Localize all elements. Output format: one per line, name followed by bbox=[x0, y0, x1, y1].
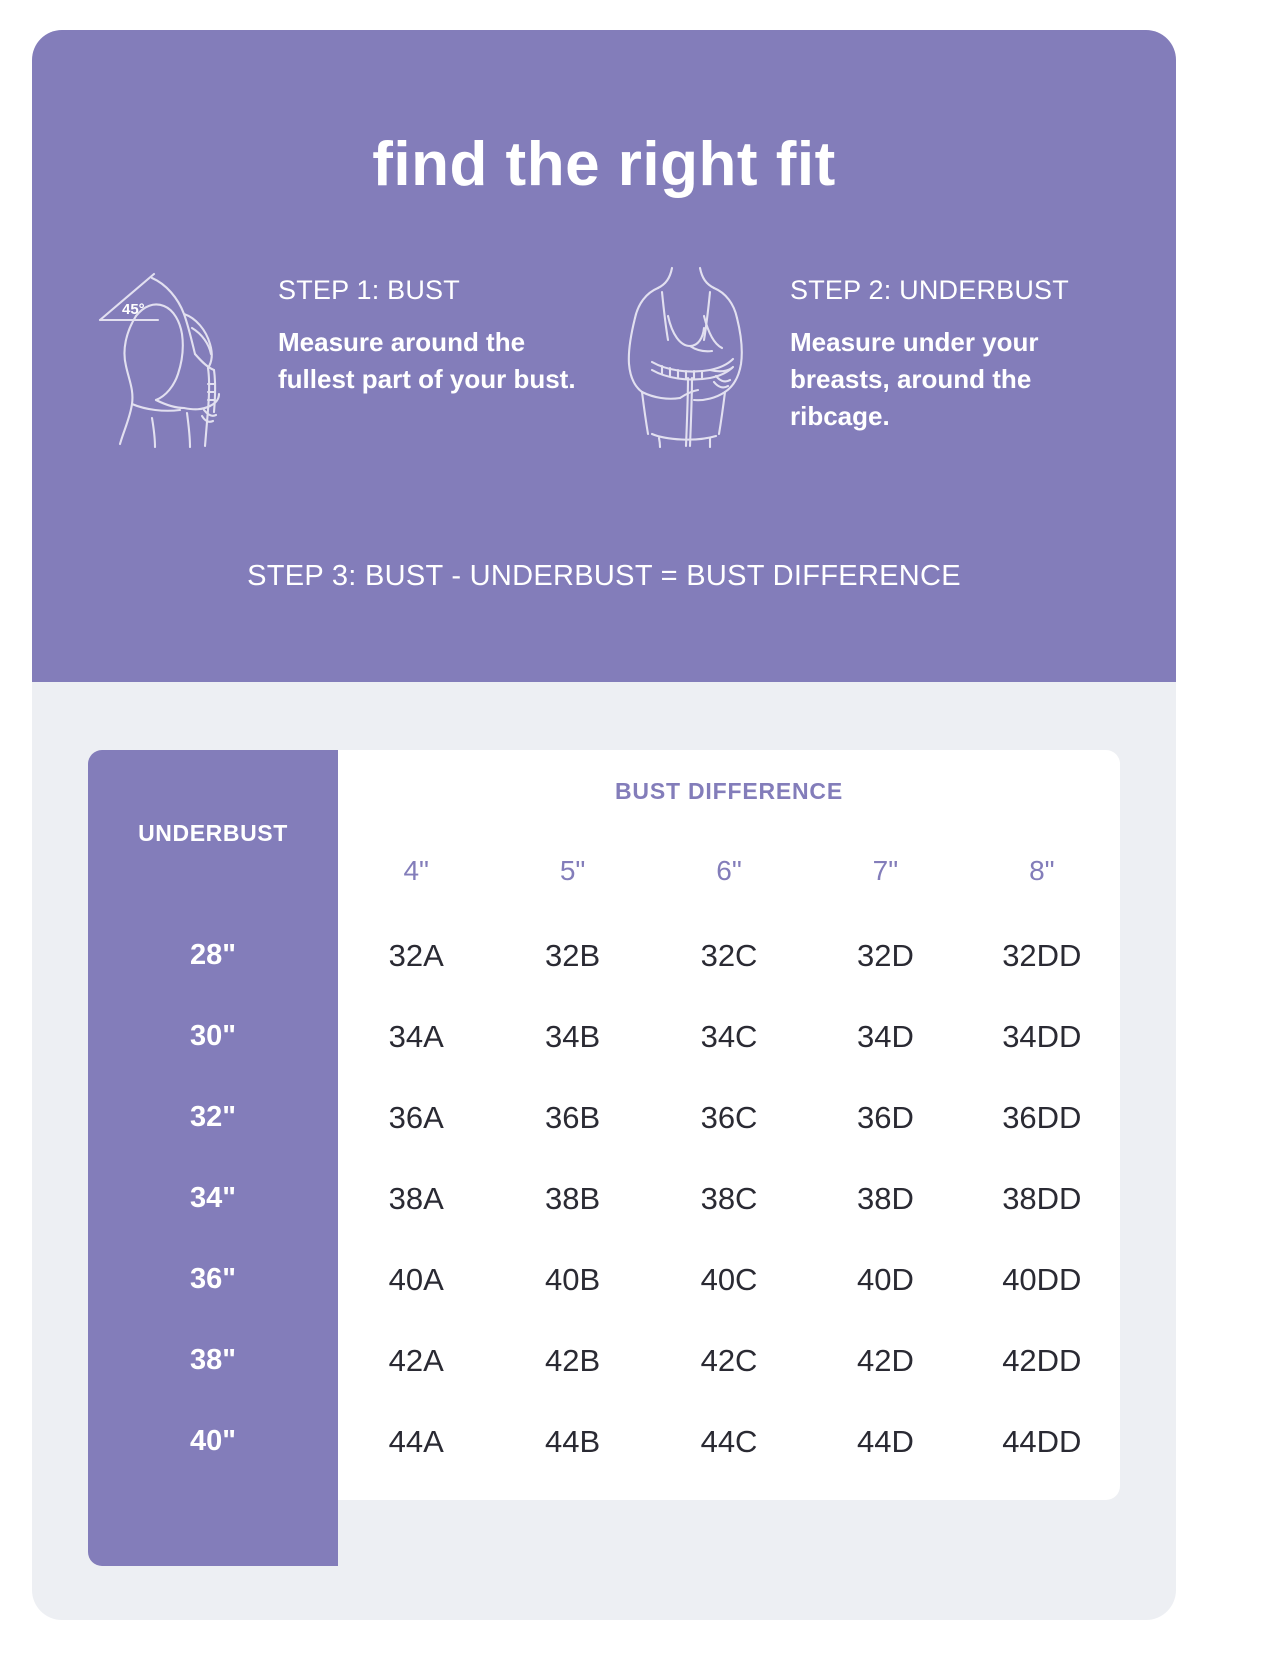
size-cell: 38B bbox=[494, 1181, 650, 1217]
size-cell: 36A bbox=[338, 1100, 494, 1136]
step-2-text: STEP 2: UNDERBUST Measure under your bre… bbox=[790, 258, 1116, 434]
size-cell: 44A bbox=[338, 1424, 494, 1460]
size-cell: 34A bbox=[338, 1019, 494, 1055]
size-cell: 38C bbox=[651, 1181, 807, 1217]
size-cell: 42B bbox=[494, 1343, 650, 1379]
column-header-6in: 6" bbox=[651, 855, 807, 887]
size-cell: 44C bbox=[651, 1424, 807, 1460]
row-underbust-label: 40" bbox=[88, 1425, 338, 1458]
row-underbust-label: 36" bbox=[88, 1263, 338, 1296]
step-3-formula: STEP 3: BUST - UNDERBUST = BUST DIFFEREN… bbox=[32, 560, 1176, 593]
size-cell: 40C bbox=[651, 1262, 807, 1298]
size-cell: 40D bbox=[807, 1262, 963, 1298]
row-underbust-label: 34" bbox=[88, 1182, 338, 1215]
size-cell: 32D bbox=[807, 938, 963, 974]
underbust-column-header: UNDERBUST bbox=[88, 820, 338, 847]
woman-measuring-underbust-front-view-icon bbox=[604, 258, 772, 448]
size-cell: 42D bbox=[807, 1343, 963, 1379]
bra-size-guide-page: find the right fit 45° bbox=[0, 0, 1280, 1660]
table-row: 38" 42A 42B 42C 42D 42DD bbox=[88, 1320, 1120, 1401]
column-header-5in: 5" bbox=[494, 855, 650, 887]
size-cell: 44D bbox=[807, 1424, 963, 1460]
size-cell: 32A bbox=[338, 938, 494, 974]
step-1-body: Measure around the fullest part of your … bbox=[278, 324, 578, 398]
step-1-text: STEP 1: BUST Measure around the fullest … bbox=[278, 258, 578, 398]
step-2-body: Measure under your breasts, around the r… bbox=[790, 324, 1116, 435]
size-cell: 38DD bbox=[964, 1181, 1120, 1217]
table-row: 32" 36A 36B 36C 36D 36DD bbox=[88, 1077, 1120, 1158]
table-row: 28" 32A 32B 32C 32D 32DD bbox=[88, 915, 1120, 996]
column-header-4in: 4" bbox=[338, 855, 494, 887]
size-cell: 32DD bbox=[964, 938, 1120, 974]
table-row: 30" 34A 34B 34C 34D 34DD bbox=[88, 996, 1120, 1077]
size-cell: 42A bbox=[338, 1343, 494, 1379]
column-header-8in: 8" bbox=[964, 855, 1120, 887]
size-cell: 44B bbox=[494, 1424, 650, 1460]
woman-measuring-bust-side-view-icon: 45° bbox=[92, 258, 260, 448]
size-cell: 40B bbox=[494, 1262, 650, 1298]
size-cell: 32C bbox=[651, 938, 807, 974]
table-row: 36" 40A 40B 40C 40D 40DD bbox=[88, 1239, 1120, 1320]
size-cell: 40A bbox=[338, 1262, 494, 1298]
step-1: 45° bbox=[92, 258, 604, 448]
bust-difference-header: BUST DIFFERENCE bbox=[338, 778, 1120, 805]
size-cell: 32B bbox=[494, 938, 650, 974]
size-cell: 42DD bbox=[964, 1343, 1120, 1379]
size-cell: 36C bbox=[651, 1100, 807, 1136]
table-row: 34" 38A 38B 38C 38D 38DD bbox=[88, 1158, 1120, 1239]
step-2: STEP 2: UNDERBUST Measure under your bre… bbox=[604, 258, 1116, 448]
step-1-heading: STEP 1: BUST bbox=[278, 276, 578, 306]
step-2-heading: STEP 2: UNDERBUST bbox=[790, 276, 1116, 306]
size-cell: 36D bbox=[807, 1100, 963, 1136]
table-row: 40" 44A 44B 44C 44D 44DD bbox=[88, 1401, 1120, 1482]
row-underbust-label: 30" bbox=[88, 1020, 338, 1053]
hero-panel: find the right fit 45° bbox=[32, 30, 1176, 682]
row-underbust-label: 32" bbox=[88, 1101, 338, 1134]
column-headers: 4" 5" 6" 7" 8" bbox=[338, 855, 1120, 887]
page-title: find the right fit bbox=[32, 134, 1176, 196]
size-cell: 34B bbox=[494, 1019, 650, 1055]
size-cell: 38D bbox=[807, 1181, 963, 1217]
steps-container: 45° bbox=[92, 258, 1116, 448]
row-underbust-label: 38" bbox=[88, 1344, 338, 1377]
size-cell: 34C bbox=[651, 1019, 807, 1055]
size-cell: 44DD bbox=[964, 1424, 1120, 1460]
size-cell: 40DD bbox=[964, 1262, 1120, 1298]
size-cell: 36B bbox=[494, 1100, 650, 1136]
size-cell: 34DD bbox=[964, 1019, 1120, 1055]
size-cell: 34D bbox=[807, 1019, 963, 1055]
size-cell: 42C bbox=[651, 1343, 807, 1379]
size-cell: 38A bbox=[338, 1181, 494, 1217]
column-header-7in: 7" bbox=[807, 855, 963, 887]
row-underbust-label: 28" bbox=[88, 939, 338, 972]
size-cell: 36DD bbox=[964, 1100, 1120, 1136]
